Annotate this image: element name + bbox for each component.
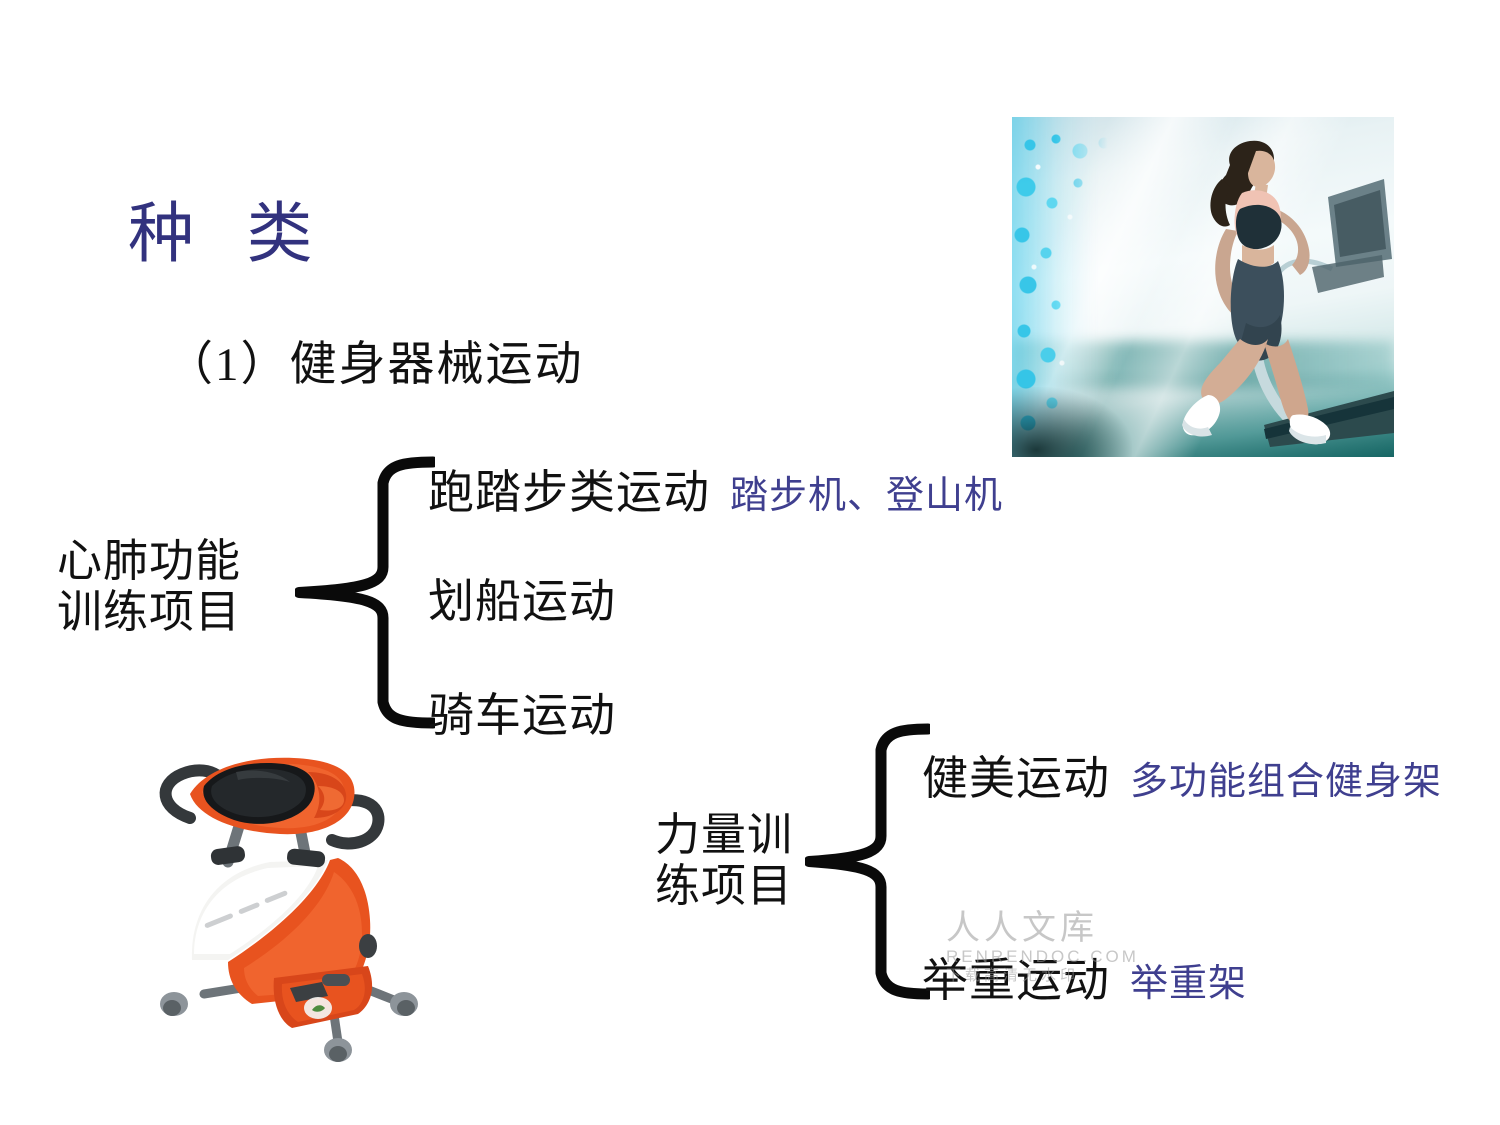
branch-label-cycling: 骑车运动 (428, 690, 616, 741)
branch-row-rowing: 划船运动 (428, 565, 616, 631)
curly-brace-icon-strength (805, 722, 930, 1002)
exercise-bike-photo (132, 742, 440, 1068)
branch-note-weightlifting: 举重架 (1130, 963, 1247, 1005)
watermark-line1: 人人文库 (946, 912, 1176, 946)
branch-label-weightlifting: 举重运动 (922, 955, 1110, 1006)
slide-canvas: 种 类 （1）健身器械运动 心肺功能 训练项目 跑踏步类运动 踏步机、登山机 划… (0, 0, 1500, 1125)
curly-brace-icon-cardio (295, 455, 435, 730)
section-subtitle: （1）健身器械运动 (166, 341, 584, 390)
branch-label-rowing: 划船运动 (428, 576, 616, 627)
group-label-cardio-line2: 训练项目 (57, 587, 241, 638)
group-label-strength-line1: 力量训 (655, 810, 793, 861)
branch-row-cycling: 骑车运动 (428, 679, 616, 745)
branch-note-bodybuilding: 多功能组合健身架 (1130, 761, 1442, 803)
treadmill-runner-photo (1012, 117, 1394, 457)
exercise-bike-icon (132, 742, 440, 1068)
branch-label-bodybuilding: 健美运动 (922, 753, 1110, 804)
group-label-cardio: 心肺功能 训练项目 (57, 536, 241, 639)
branch-row-weightlifting: 举重运动 举重架 (922, 944, 1247, 1010)
page-title: 种 类 (128, 200, 331, 269)
photo-dark-corner (1012, 387, 1132, 457)
branch-note-running: 踏步机、登山机 (730, 475, 1003, 517)
group-label-strength-line2: 练项目 (655, 861, 793, 912)
branch-row-running: 跑踏步类运动 踏步机、登山机 (428, 456, 1003, 522)
group-label-strength: 力量训 练项目 (655, 810, 793, 913)
branch-row-bodybuilding: 健美运动 多功能组合健身架 (922, 742, 1442, 808)
group-label-cardio-line1: 心肺功能 (57, 536, 241, 587)
branch-label-running: 跑踏步类运动 (428, 467, 710, 518)
